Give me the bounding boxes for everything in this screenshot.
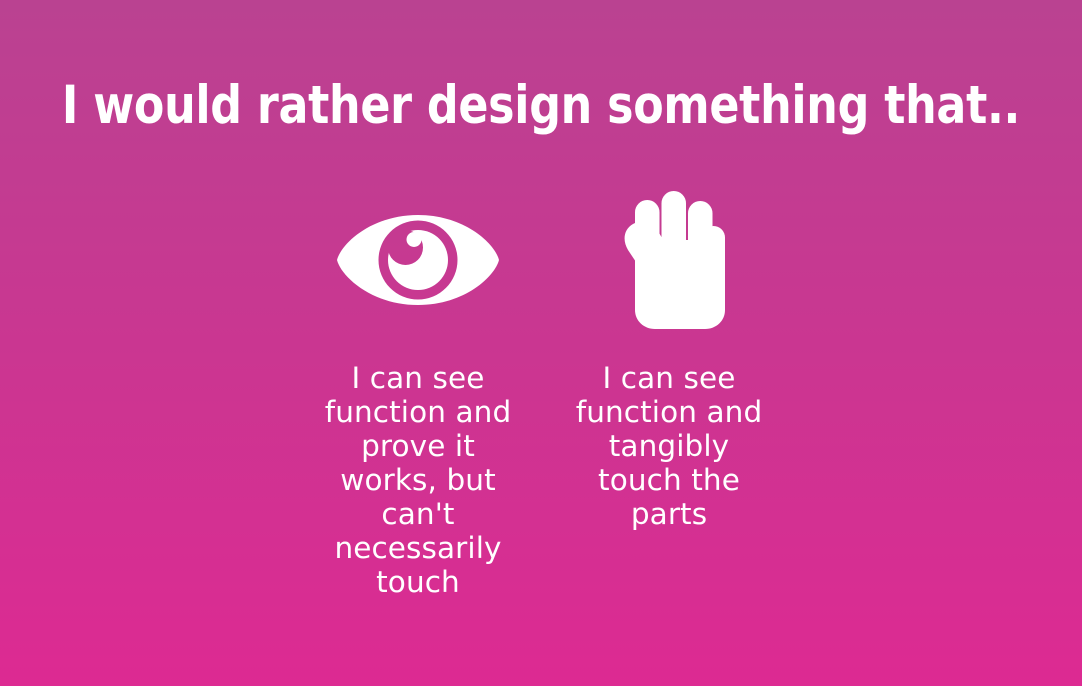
eye-icon <box>335 214 501 306</box>
option-touch[interactable]: I can see function and tangibly touch th… <box>569 0 769 686</box>
eye-icon-wrap <box>318 214 518 306</box>
hand-icon-wrap <box>569 188 769 332</box>
hand-icon <box>606 188 733 330</box>
options-row: I can see function and prove it works, b… <box>0 0 1082 686</box>
option-see[interactable]: I can see function and prove it works, b… <box>318 0 518 686</box>
option-see-caption: I can see function and prove it works, b… <box>318 361 518 599</box>
option-touch-caption: I can see function and tangibly touch th… <box>569 361 769 531</box>
slide-canvas: I would rather design something that.. <box>0 0 1082 686</box>
